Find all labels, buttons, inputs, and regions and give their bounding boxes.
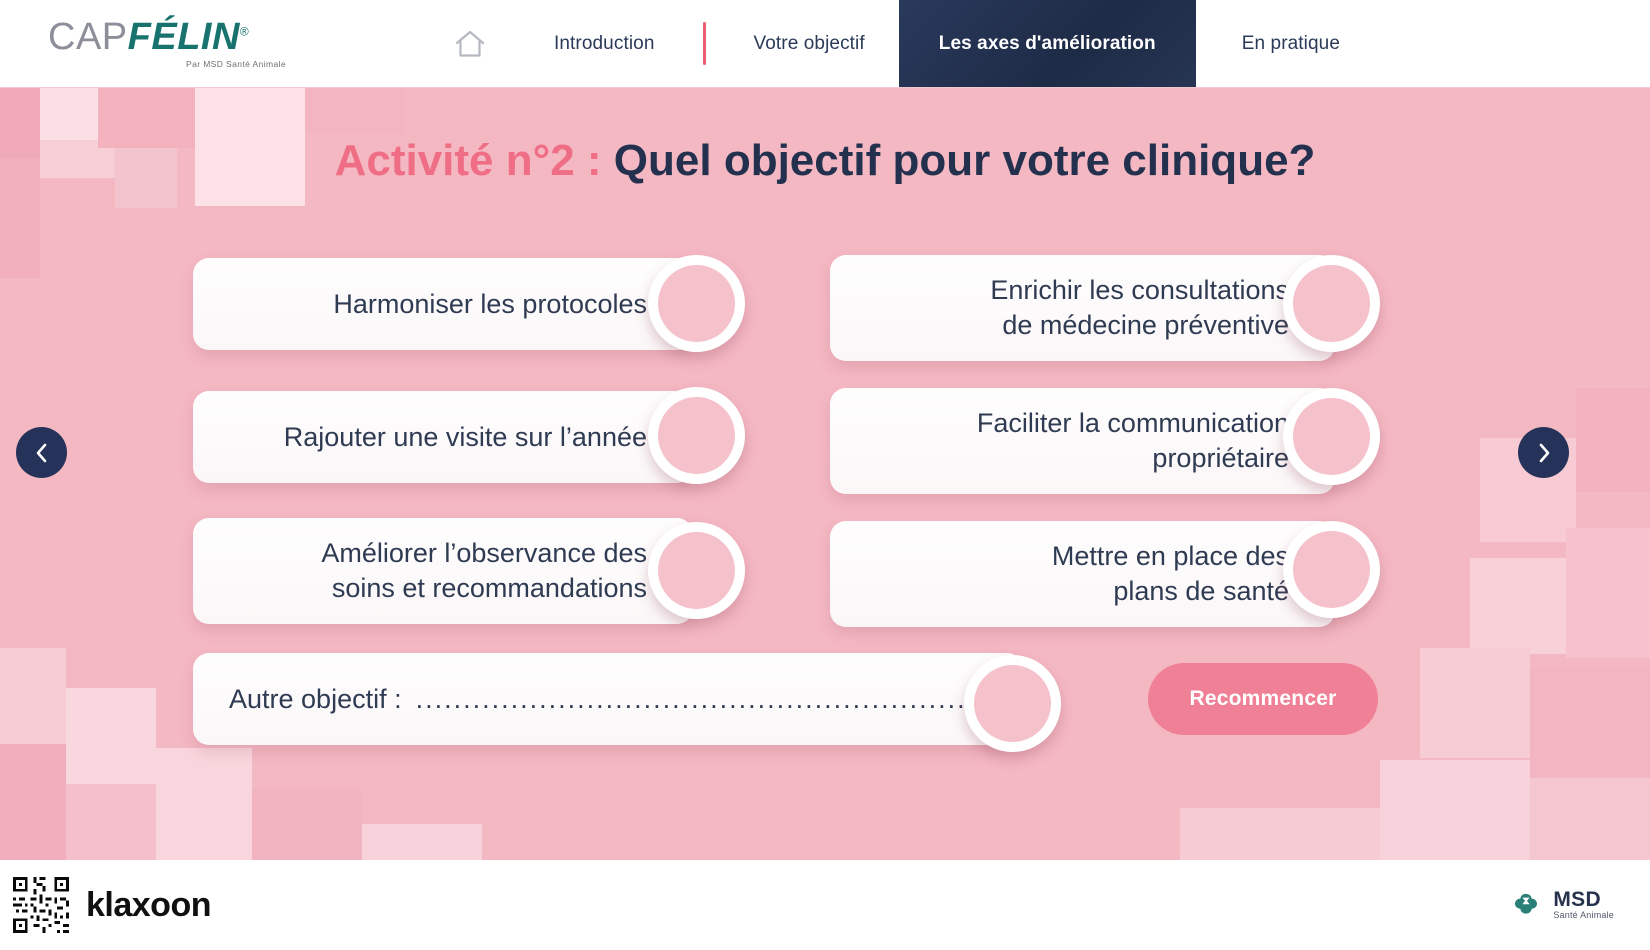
options-grid: Harmoniser les protocoles Rajouter une v… [0,88,1650,860]
option-circle-harmoniser[interactable] [648,255,745,352]
option-card-enrichir[interactable]: Enrichir les consultations de médecine p… [830,255,1335,361]
option-label: Harmoniser les protocoles [333,287,693,322]
option-circle-ameliorer[interactable] [648,522,745,619]
restart-button[interactable]: Recommencer [1148,663,1378,735]
msd-subtitle: Santé Animale [1553,911,1614,920]
option-card-plans-sante[interactable]: Mettre en place des plans de santé [830,521,1335,627]
klaxoon-branding: klaxoon [10,874,211,936]
logo-trademark: ® [240,25,249,39]
nav-item-introduction[interactable]: Introduction [520,0,689,87]
chevron-left-icon [31,442,53,464]
option-circle-enrichir[interactable] [1283,255,1380,352]
option-circle-plans-sante[interactable] [1283,521,1380,618]
msd-name: MSD [1553,889,1614,911]
next-slide-button[interactable] [1518,427,1569,478]
option-label: Faciliter la communication propriétaire [977,406,1335,475]
option-label: Rajouter une visite sur l’année [284,420,693,455]
logo-felin-text: FÉLIN [128,16,240,58]
option-card-harmoniser[interactable]: Harmoniser les protocoles [193,258,693,350]
other-objective-dotted-line: ........................................… [416,684,996,715]
presentation-screen: CAPFÉLIN® Par MSD Santé Animale Introduc… [0,0,1650,950]
nav-items-container: Introduction Votre objectif Les axes d'a… [420,0,1650,87]
logo-cap-text: CAP [48,16,128,58]
option-label: Améliorer l’observance des soins et reco… [321,536,693,605]
option-circle-rajouter[interactable] [648,387,745,484]
option-card-faciliter[interactable]: Faciliter la communication propriétaire [830,388,1335,494]
brand-logo: CAPFÉLIN® Par MSD Santé Animale [0,0,420,87]
msd-branding: MSD Santé Animale [1509,888,1614,922]
other-objective-circle[interactable] [964,655,1061,752]
logo-subtitle: Par MSD Santé Animale [186,60,286,69]
home-button[interactable] [420,0,520,87]
nav-item-votre-objectif[interactable]: Votre objectif [720,0,899,87]
nav-item-les-axes-damelioration[interactable]: Les axes d'amélioration [899,0,1196,87]
top-navigation-bar: CAPFÉLIN® Par MSD Santé Animale Introduc… [0,0,1650,88]
nav-item-label: En pratique [1242,33,1340,55]
slide-stage: Activité n°2 : Quel objectif pour votre … [0,88,1650,860]
home-icon [453,28,487,60]
nav-item-label: Les axes d'amélioration [939,33,1156,55]
other-objective-field[interactable]: Autre objectif : .......................… [193,653,1023,745]
previous-slide-button[interactable] [16,427,67,478]
option-circle-faciliter[interactable] [1283,388,1380,485]
msd-logo-icon [1509,888,1543,922]
nav-item-en-pratique[interactable]: En pratique [1196,0,1386,87]
klaxoon-label: klaxoon [86,886,211,925]
footer-bar: klaxoon MSD Santé Animale [0,860,1650,950]
nav-item-label: Votre objectif [754,33,865,55]
nav-item-label: Introduction [554,33,655,55]
nav-divider [703,22,706,65]
other-objective-label: Autre objectif : [229,684,402,715]
option-card-rajouter[interactable]: Rajouter une visite sur l’année [193,391,693,483]
qr-code-icon[interactable] [10,874,72,936]
chevron-right-icon [1533,442,1555,464]
option-card-ameliorer[interactable]: Améliorer l’observance des soins et reco… [193,518,693,624]
